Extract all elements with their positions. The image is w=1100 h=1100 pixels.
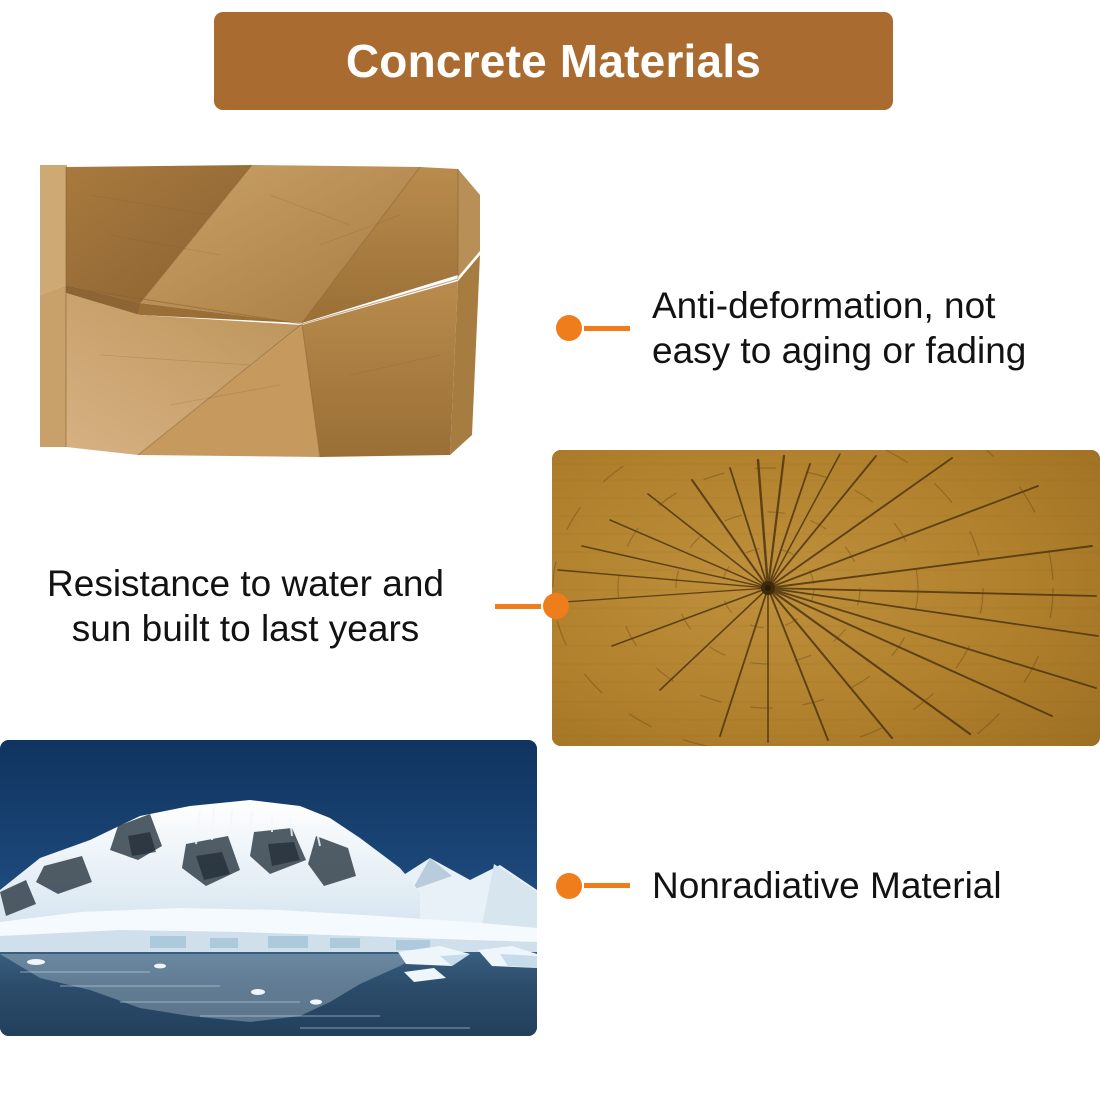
- faceted-wood-block-graphic: [20, 155, 500, 470]
- image-wood-slab-tree-rings: [552, 450, 1100, 746]
- page-title: Concrete Materials: [346, 38, 761, 84]
- infographic-canvas: Concrete Materials: [0, 0, 1100, 1100]
- bullet-dot-icon: [556, 873, 582, 899]
- feature-row-anti-deformation: Anti-deformation, not easy to aging or f…: [556, 283, 1026, 373]
- connector-line: [495, 604, 541, 609]
- feature-row-water-sun-resistance: Resistance to water and sun built to las…: [18, 561, 569, 651]
- feature-row-nonradiative: Nonradiative Material: [556, 863, 1002, 908]
- image-faceted-wood-block: [20, 155, 500, 470]
- connector-line: [584, 326, 630, 331]
- bullet-dot-icon: [556, 315, 582, 341]
- wood-slab-graphic: [552, 450, 1100, 746]
- title-banner: Concrete Materials: [214, 12, 893, 110]
- feature-label-nonradiative: Nonradiative Material: [652, 863, 1002, 908]
- connector-line: [584, 883, 630, 888]
- feature-label-anti-deformation: Anti-deformation, not easy to aging or f…: [652, 283, 1026, 373]
- bullet-dot-icon: [543, 593, 569, 619]
- polar-mountains-graphic: [0, 740, 537, 1036]
- feature-label-water-sun-resistance: Resistance to water and sun built to las…: [18, 561, 473, 651]
- image-polar-mountains: [0, 740, 537, 1036]
